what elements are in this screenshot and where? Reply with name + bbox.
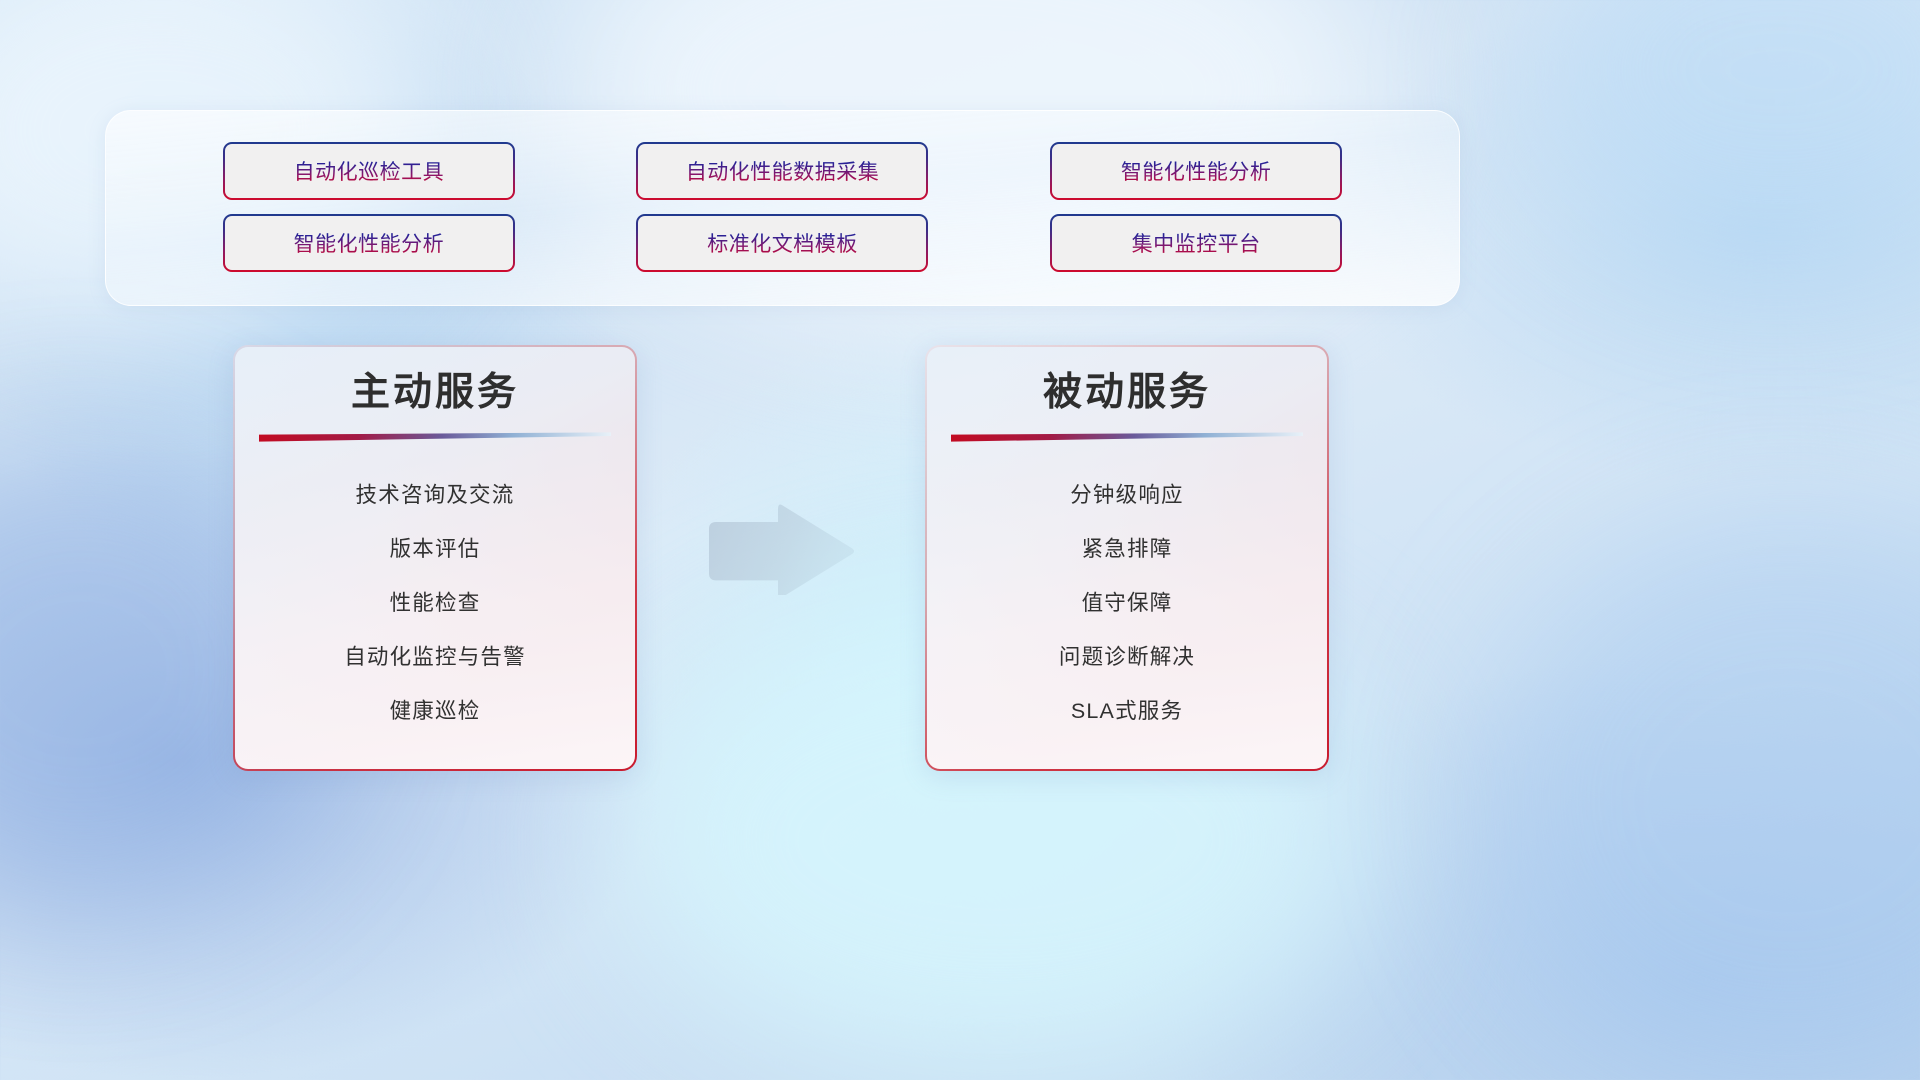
- capability-chip-2[interactable]: 自动化性能数据采集: [636, 142, 928, 200]
- service-item[interactable]: 自动化监控与告警: [344, 640, 526, 671]
- capability-chip-5[interactable]: 标准化文档模板: [636, 214, 928, 272]
- capability-chip-label: 标准化文档模板: [707, 228, 858, 258]
- capability-chip-4[interactable]: 智能化性能分析: [223, 214, 515, 272]
- capability-chip-label: 智能化性能分析: [294, 228, 445, 258]
- capabilities-panel: 自动化巡检工具 自动化性能数据采集 智能化性能分析 智能化性能分析 标准化文档模…: [105, 110, 1460, 306]
- service-item[interactable]: 紧急排障: [1082, 532, 1173, 563]
- capability-chip-label: 自动化巡检工具: [294, 156, 445, 186]
- service-item[interactable]: 版本评估: [390, 532, 481, 563]
- background-glow-right: [1480, 520, 1920, 1080]
- capability-chip-6[interactable]: 集中监控平台: [1050, 214, 1342, 272]
- title-accent-rule: [259, 432, 611, 446]
- service-item[interactable]: 分钟级响应: [1070, 478, 1184, 509]
- service-item-list: 技术咨询及交流 版本评估 性能检查 自动化监控与告警 健康巡检: [235, 478, 635, 725]
- service-item[interactable]: 性能检查: [390, 586, 481, 617]
- arrow-right-icon: [706, 503, 856, 595]
- capability-chip-label: 集中监控平台: [1132, 228, 1261, 258]
- capability-chip-3[interactable]: 智能化性能分析: [1050, 142, 1342, 200]
- service-card-body: 主动服务 技术咨询及交流 版本评估 性能检查 自动化监控与告警: [235, 347, 635, 769]
- service-item[interactable]: 值守保障: [1082, 586, 1173, 617]
- capabilities-grid: 自动化巡检工具 自动化性能数据采集 智能化性能分析 智能化性能分析 标准化文档模…: [106, 111, 1459, 305]
- service-item[interactable]: 问题诊断解决: [1059, 640, 1195, 671]
- service-card-title: 被动服务: [1043, 369, 1211, 418]
- service-item-list: 分钟级响应 紧急排障 值守保障 问题诊断解决 SLA式服务: [927, 478, 1327, 725]
- service-card-passive[interactable]: 被动服务 分钟级响应 紧急排障 值守保障 问题诊断解决: [925, 345, 1329, 771]
- service-card-active[interactable]: 主动服务 技术咨询及交流 版本评估 性能检查 自动化监控与告警: [233, 345, 637, 771]
- service-item[interactable]: 健康巡检: [390, 694, 481, 725]
- title-accent-rule: [951, 432, 1303, 446]
- service-card-title: 主动服务: [351, 369, 519, 418]
- service-item[interactable]: SLA式服务: [1071, 694, 1183, 725]
- service-card-body: 被动服务 分钟级响应 紧急排障 值守保障 问题诊断解决: [927, 347, 1327, 769]
- capability-chip-label: 智能化性能分析: [1121, 156, 1272, 186]
- capability-chip-label: 自动化性能数据采集: [686, 156, 880, 186]
- capability-chip-1[interactable]: 自动化巡检工具: [223, 142, 515, 200]
- background-glow-top-right: [1520, 0, 1920, 260]
- service-item[interactable]: 技术咨询及交流: [356, 478, 515, 509]
